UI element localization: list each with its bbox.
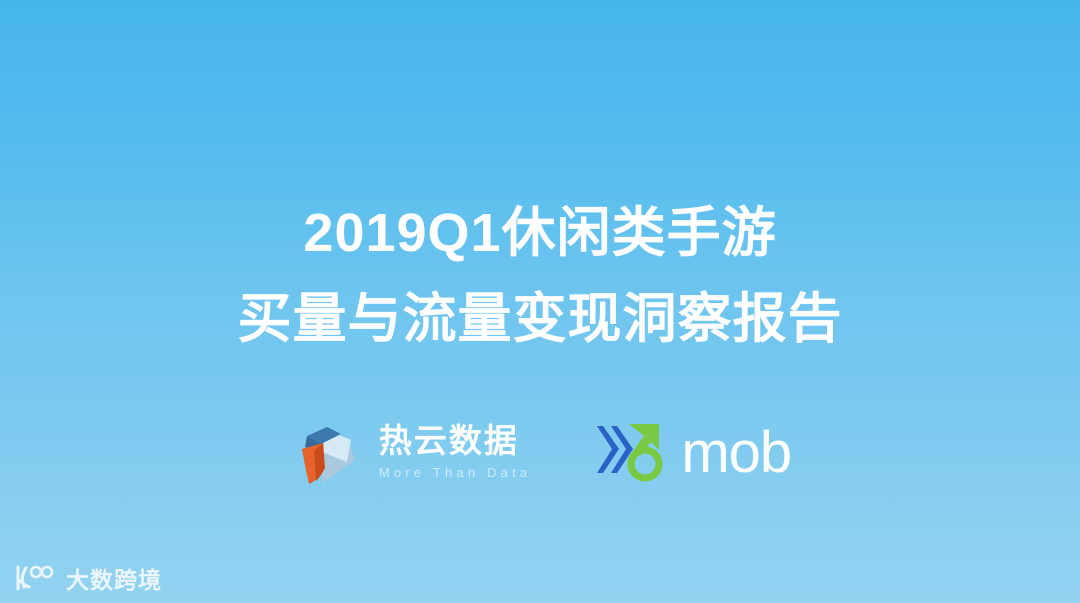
watermark-label: 大数跨境 <box>66 561 162 595</box>
dashukuajing-logo-icon <box>12 563 58 593</box>
title-line-2: 买量与流量变现洞察报告 <box>0 292 1080 346</box>
reyun-name-cn: 热云数据 <box>379 424 532 459</box>
reyun-logo: 热云数据 More Than Data <box>289 413 532 489</box>
reyun-tagline: More Than Data <box>379 465 532 480</box>
title-block: 2019Q1休闲类手游 买量与流量变现洞察报告 <box>0 206 1080 346</box>
yomob-arrow-icon <box>593 418 685 484</box>
watermark: 大数跨境 <box>12 561 162 595</box>
yomob-logo: mob <box>593 418 791 484</box>
logo-row: 热云数据 More Than Data mob <box>0 405 1080 497</box>
reyun-text-block: 热云数据 More Than Data <box>379 422 532 480</box>
presentation-cover-slide: 2019Q1休闲类手游 买量与流量变现洞察报告 <box>0 0 1080 603</box>
reyun-cube-icon <box>289 413 365 489</box>
yomob-wordmark: mob <box>681 424 791 482</box>
title-line-1: 2019Q1休闲类手游 <box>0 206 1080 260</box>
